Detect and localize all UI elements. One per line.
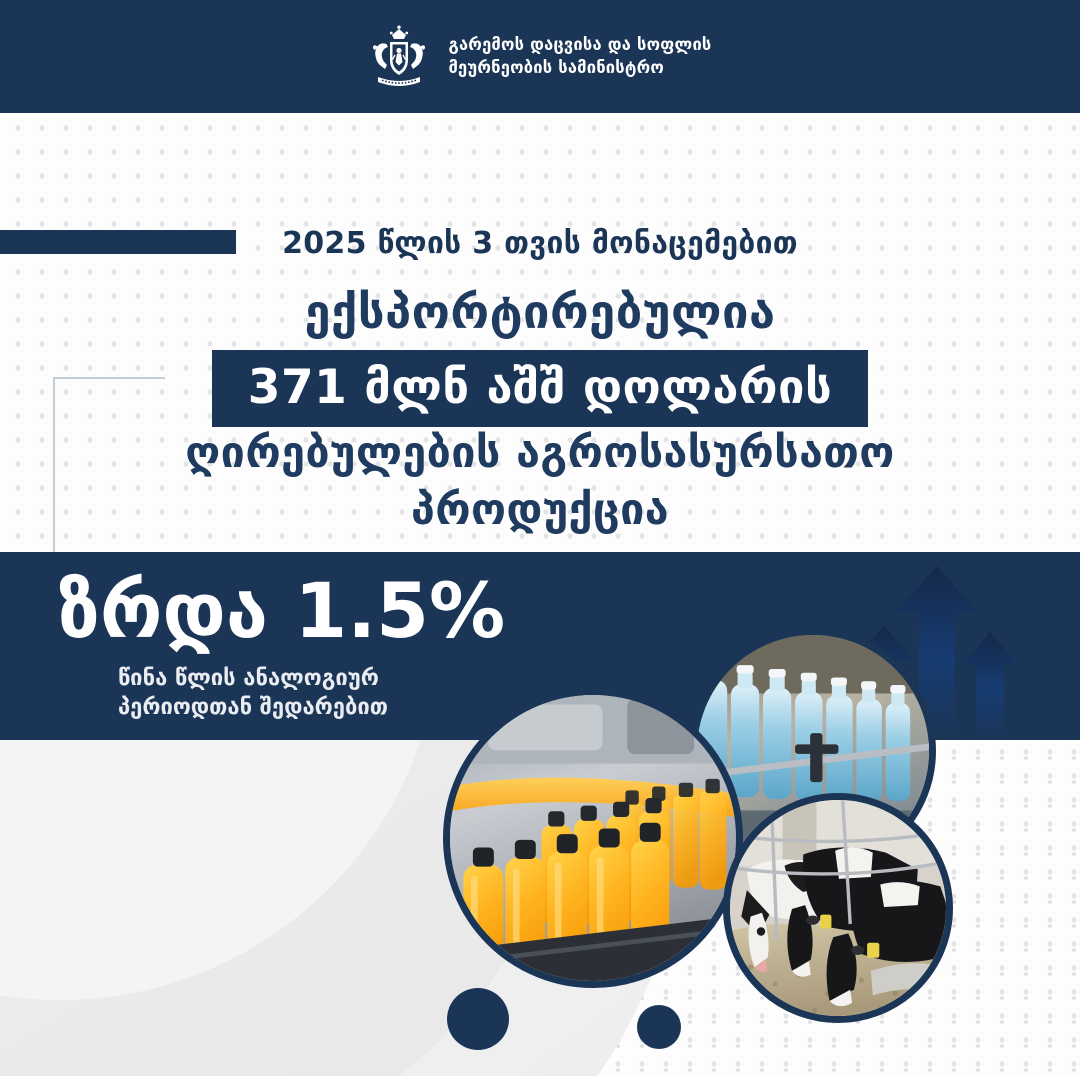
juice-bottling-line-photo (443, 688, 743, 988)
kicker-period-label: 2025 წლის 3 თვის მონაცემებით (0, 226, 1080, 261)
headline-value-line-2: პროდუქცია (0, 482, 1080, 539)
growth-subtitle: წინა წლის ანალოგიურ პერიოდთან შედარებით (118, 664, 388, 723)
headline-value-line-1: ღირებულების აგროსასურსათო (0, 425, 1080, 482)
headline-exported: ექსპორტირებულია (0, 285, 1080, 340)
ministry-name: გარემოს დაცვისა და სოფლის მეურნეობის სამ… (448, 34, 711, 80)
georgian-coat-of-arms-icon (368, 22, 430, 92)
growth-subtitle-line-2: პერიოდთან შედარებით (118, 693, 388, 722)
highlight-amount-wrap: 371 მლნ აშშ დოლარის (0, 350, 1080, 427)
dairy-cows-feeding-photo (723, 793, 953, 1023)
ministry-name-line-2: მეურნეობის სამინისტრო (448, 57, 711, 80)
highlight-amount: 371 მლნ აშშ დოლარის (212, 350, 869, 427)
decorative-dot-large (447, 988, 509, 1050)
growth-headline: ზრდა 1.5% (58, 566, 505, 655)
growth-percent: 1.5% (294, 566, 505, 655)
ministry-header: გარემოს დაცვისა და სოფლის მეურნეობის სამ… (0, 0, 1080, 113)
infographic-poster: გარემოს დაცვისა და სოფლის მეურნეობის სამ… (0, 0, 1080, 1076)
decorative-dot-small (637, 1005, 681, 1049)
growth-label: ზრდა (58, 566, 268, 655)
growth-subtitle-line-1: წინა წლის ანალოგიურ (118, 664, 388, 693)
ministry-name-line-1: გარემოს დაცვისა და სოფლის (448, 34, 711, 57)
headline-value: ღირებულების აგროსასურსათო პროდუქცია (0, 425, 1080, 539)
